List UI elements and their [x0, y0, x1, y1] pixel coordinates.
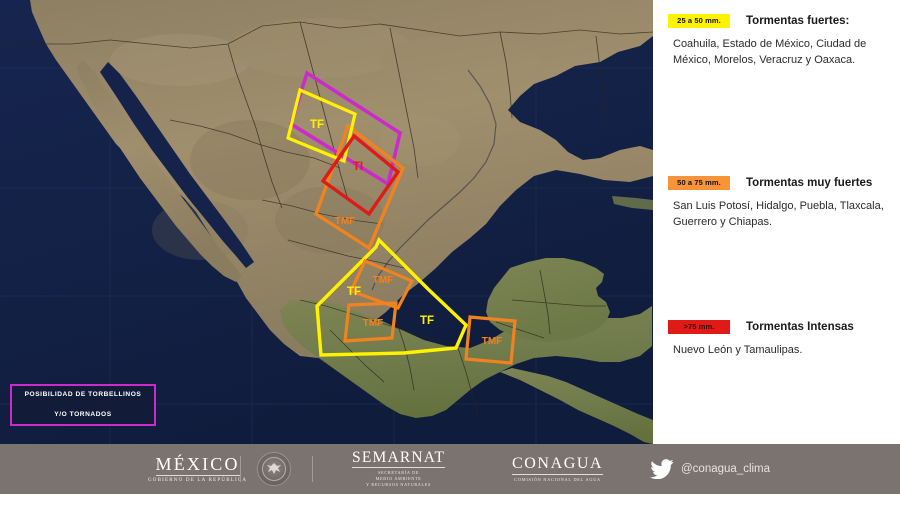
weather-map[interactable]: TF TI TMF TF TMF TMF TF TMF POSIBILIDAD … [0, 0, 653, 444]
region-label-tmf-chiapas: TMF [482, 336, 503, 347]
semarnat-sub-line-1: SECRETARÍA DE [378, 470, 419, 475]
seal-circle [257, 452, 291, 486]
legend-title-muy-fuertes: Tormentas muy fuertes [746, 177, 872, 189]
eagle-icon [264, 461, 284, 477]
conagua-logo: CONAGUA COMISIÓN NACIONAL DEL AGUA [512, 444, 603, 494]
legend-panel: 25 a 50 mm. Tormentas fuertes: Coahuila,… [653, 0, 900, 444]
conagua-logo-subtitle: COMISIÓN NACIONAL DEL AGUA [514, 477, 601, 482]
mexico-logo-subtitle: GOBIERNO DE LA REPÚBLICA [148, 478, 247, 483]
mexican-coat-of-arms-seal [253, 444, 295, 494]
legend-states-fuertes: Coahuila, Estado de México, Ciudad de Mé… [653, 28, 900, 69]
semarnat-logo: SEMARNAT SECRETARÍA DE MEDIO AMBIENTE Y … [352, 444, 445, 494]
region-label-tf-north: TF [310, 119, 324, 131]
tornado-warning-line-2: Y/O TORNADOS [25, 410, 142, 420]
semarnat-sub-line-2: MEDIO AMBIENTE [376, 476, 422, 481]
region-label-tmf-north: TMF [335, 216, 356, 227]
legend-head-fuertes: 25 a 50 mm. Tormentas fuertes: [653, 14, 900, 28]
semarnat-logo-title: SEMARNAT [352, 450, 445, 468]
tornado-warning-text: POSIBILIDAD DE TORBELLINOS Y/O TORNADOS [25, 390, 142, 420]
legend-entry-fuertes: 25 a 50 mm. Tormentas fuertes: Coahuila,… [653, 14, 900, 69]
mexico-government-logo: MÉXICO GOBIERNO DE LA REPÚBLICA [148, 444, 247, 494]
legend-entry-muy-fuertes: 50 a 75 mm. Tormentas muy fuertes San Lu… [653, 176, 900, 231]
footer-white-strip [0, 494, 900, 506]
region-label-tf-south-east: TF [420, 315, 434, 327]
twitter-bird-icon[interactable] [650, 459, 674, 479]
footer-bar: MÉXICO GOBIERNO DE LA REPÚBLICA SEMARNAT… [0, 444, 900, 494]
legend-states-intensas: Nuevo León y Tamaulipas. [653, 334, 900, 359]
footer-divider-left [240, 456, 241, 482]
region-label-ti-north: TI [353, 161, 363, 173]
region-label-tf-south-west: TF [347, 286, 361, 298]
twitter-handle-text[interactable]: @conagua_clima [681, 463, 770, 475]
legend-entry-intensas: >75 mm. Tormentas Intensas Nuevo León y … [653, 320, 900, 359]
region-label-tmf-south-b: TMF [363, 318, 384, 329]
legend-head-intensas: >75 mm. Tormentas Intensas [653, 320, 900, 334]
semarnat-sub-line-3: Y RECURSOS NATURALES [366, 482, 431, 487]
legend-swatch-fuertes: 25 a 50 mm. [668, 14, 730, 28]
legend-head-muy-fuertes: 50 a 75 mm. Tormentas muy fuertes [653, 176, 900, 190]
legend-states-muy-fuertes: San Luis Potosí, Hidalgo, Puebla, Tlaxca… [653, 190, 900, 231]
footer-divider-right [312, 456, 313, 482]
legend-title-intensas: Tormentas Intensas [746, 321, 854, 333]
tornado-warning-box: POSIBILIDAD DE TORBELLINOS Y/O TORNADOS [10, 384, 156, 426]
legend-title-fuertes: Tormentas fuertes: [746, 15, 849, 27]
screenshot-root: TF TI TMF TF TMF TMF TF TMF POSIBILIDAD … [0, 0, 900, 506]
legend-swatch-muy-fuertes: 50 a 75 mm. [668, 176, 730, 190]
region-label-tmf-south-a: TMF [373, 275, 394, 286]
tornado-warning-line-1: POSIBILIDAD DE TORBELLINOS [25, 390, 142, 400]
legend-swatch-intensas: >75 mm. [668, 320, 730, 334]
twitter-account[interactable]: @conagua_clima [650, 444, 770, 494]
map-canvas: TF TI TMF TF TMF TMF TF TMF [0, 0, 653, 444]
conagua-logo-title: CONAGUA [512, 456, 603, 475]
mexico-logo-title: MÉXICO [156, 455, 240, 476]
semarnat-logo-subtitle: SECRETARÍA DE MEDIO AMBIENTE Y RECURSOS … [366, 470, 431, 488]
